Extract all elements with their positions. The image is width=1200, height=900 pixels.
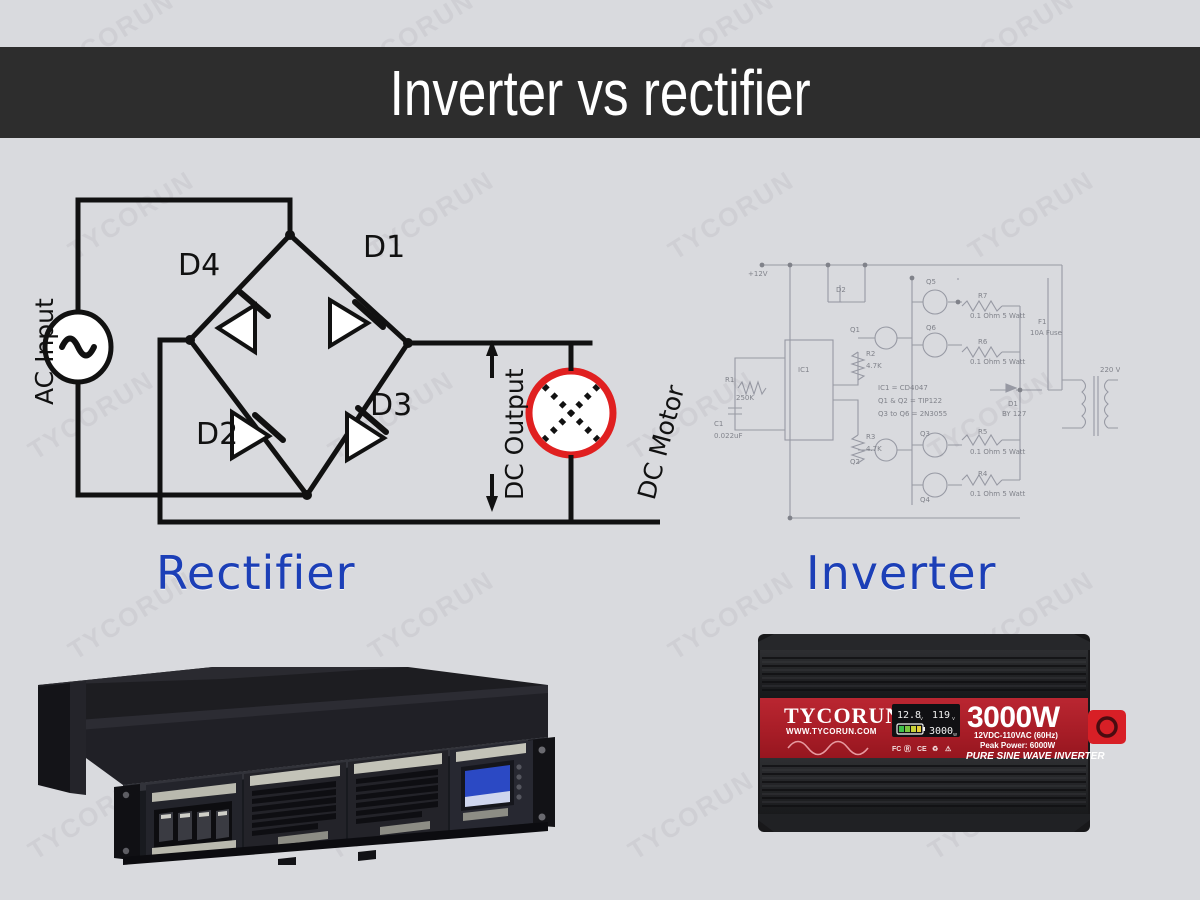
svg-text:220 V: 220 V [1100, 366, 1120, 374]
svg-text:Q4: Q4 [920, 496, 931, 504]
schematic-annotations: +12V IC1 = CD4047 Q1 & Q2 = TIP122 Q3 to… [714, 270, 1120, 504]
svg-text:4.7K: 4.7K [866, 362, 882, 370]
svg-text:250K: 250K [736, 394, 754, 402]
svg-text:0.022uF: 0.022uF [714, 432, 743, 440]
lcd-watts-unit: w [953, 732, 957, 738]
svg-text:CE: CE [917, 746, 927, 753]
inverter-circuit-schematic: +12V IC1 = CD4047 Q1 & Q2 = TIP122 Q3 to… [690, 240, 1120, 530]
bridge-rectifier-schematic: D4 D1 D2 D3 [0, 150, 660, 550]
lcd-ac-voltage: 119 [932, 710, 950, 721]
svg-text:0.1 Ohm 5 Watt: 0.1 Ohm 5 Watt [970, 312, 1026, 320]
svg-text:R1: R1 [725, 376, 734, 384]
diode-label-d4: D4 [178, 248, 220, 283]
brand-name: TYCORUN [784, 703, 902, 728]
caption-rectifier: Rectifier [156, 546, 356, 600]
svg-text:FC: FC [892, 746, 901, 753]
svg-text:R6: R6 [978, 338, 988, 346]
svg-text:Q3: Q3 [920, 430, 930, 438]
lcd-ac-unit: v [952, 716, 955, 722]
peak-power: Peak Power: 6000W [980, 741, 1056, 750]
svg-text:Q6: Q6 [926, 324, 937, 332]
svg-text:R7: R7 [978, 292, 987, 300]
svg-text:Q3 to Q6 = 2N3055: Q3 to Q6 = 2N3055 [878, 410, 947, 418]
svg-text:Q1 & Q2 = TIP122: Q1 & Q2 = TIP122 [878, 397, 942, 405]
svg-text:R2: R2 [866, 350, 875, 358]
svg-text:Q2: Q2 [850, 458, 860, 466]
ac-input-label: AC Input [30, 298, 59, 405]
inverter-type-line: PURE SINE WAVE INVERTER [966, 751, 1105, 762]
svg-text:Ⓡ: Ⓡ [904, 744, 911, 753]
svg-text:10A Fuse: 10A Fuse [1030, 329, 1062, 337]
spec-line: 12VDC-110VAC (60Hz) [974, 731, 1058, 740]
svg-text:R3: R3 [866, 433, 875, 441]
dc-motor-symbol [529, 371, 613, 455]
svg-text:BY 127: BY 127 [1002, 410, 1026, 418]
lcd-watts: 3000 [929, 726, 953, 737]
diode-label-d3: D3 [370, 388, 412, 423]
lcd-dc-voltage: 12.8 [897, 710, 921, 721]
dc-output-label: DC Output [500, 369, 529, 501]
svg-text:IC1 = CD4047: IC1 = CD4047 [878, 384, 928, 392]
diode-label-d2: D2 [196, 417, 238, 452]
svg-text:⚠: ⚠ [945, 745, 952, 753]
svg-text:R5: R5 [978, 428, 987, 436]
tycorun-3000w-inverter: TYCORUN WWW.TYCORUN.COM 12.8 v 119 v 300… [752, 628, 1142, 840]
svg-text:0.1 Ohm 5 Watt: 0.1 Ohm 5 Watt [970, 358, 1026, 366]
svg-text:+12V: +12V [748, 270, 768, 278]
diode-label-d1: D1 [363, 230, 405, 265]
svg-text:D2: D2 [836, 286, 846, 294]
svg-text:F1: F1 [1038, 318, 1046, 326]
rack-mount-rectifier-unit [28, 645, 583, 865]
svg-text:R4: R4 [978, 470, 988, 478]
caption-inverter: Inverter [806, 546, 996, 600]
svg-text:Q5: Q5 [926, 278, 936, 286]
svg-text:IC1: IC1 [798, 366, 809, 374]
brand-website: WWW.TYCORUN.COM [786, 727, 877, 736]
lcd-dc-unit: v [920, 716, 923, 722]
svg-text:C1: C1 [714, 420, 723, 428]
svg-text:0.1 Ohm 5 Watt: 0.1 Ohm 5 Watt [970, 448, 1026, 456]
svg-text:D1: D1 [1008, 400, 1018, 408]
dc-output-arrow [486, 340, 498, 512]
power-switch[interactable] [1088, 710, 1126, 744]
svg-text:0.1 Ohm 5 Watt: 0.1 Ohm 5 Watt [970, 490, 1026, 498]
wire-ac-top [78, 200, 290, 235]
header-banner: Inverter vs rectifier [0, 47, 1200, 138]
svg-text:Q1: Q1 [850, 326, 860, 334]
watermark-text: TYCORUN [623, 765, 760, 867]
svg-text:♻: ♻ [932, 745, 938, 753]
diode-d1 [330, 300, 383, 346]
screenshot-canvas: TYCORUN TYCORUN TYCORUN TYCORUN TYCORUN … [0, 0, 1200, 900]
page-title: Inverter vs rectifier [389, 61, 810, 125]
svg-text:4.7K: 4.7K [866, 445, 882, 453]
power-rating: 3000W [967, 701, 1061, 734]
